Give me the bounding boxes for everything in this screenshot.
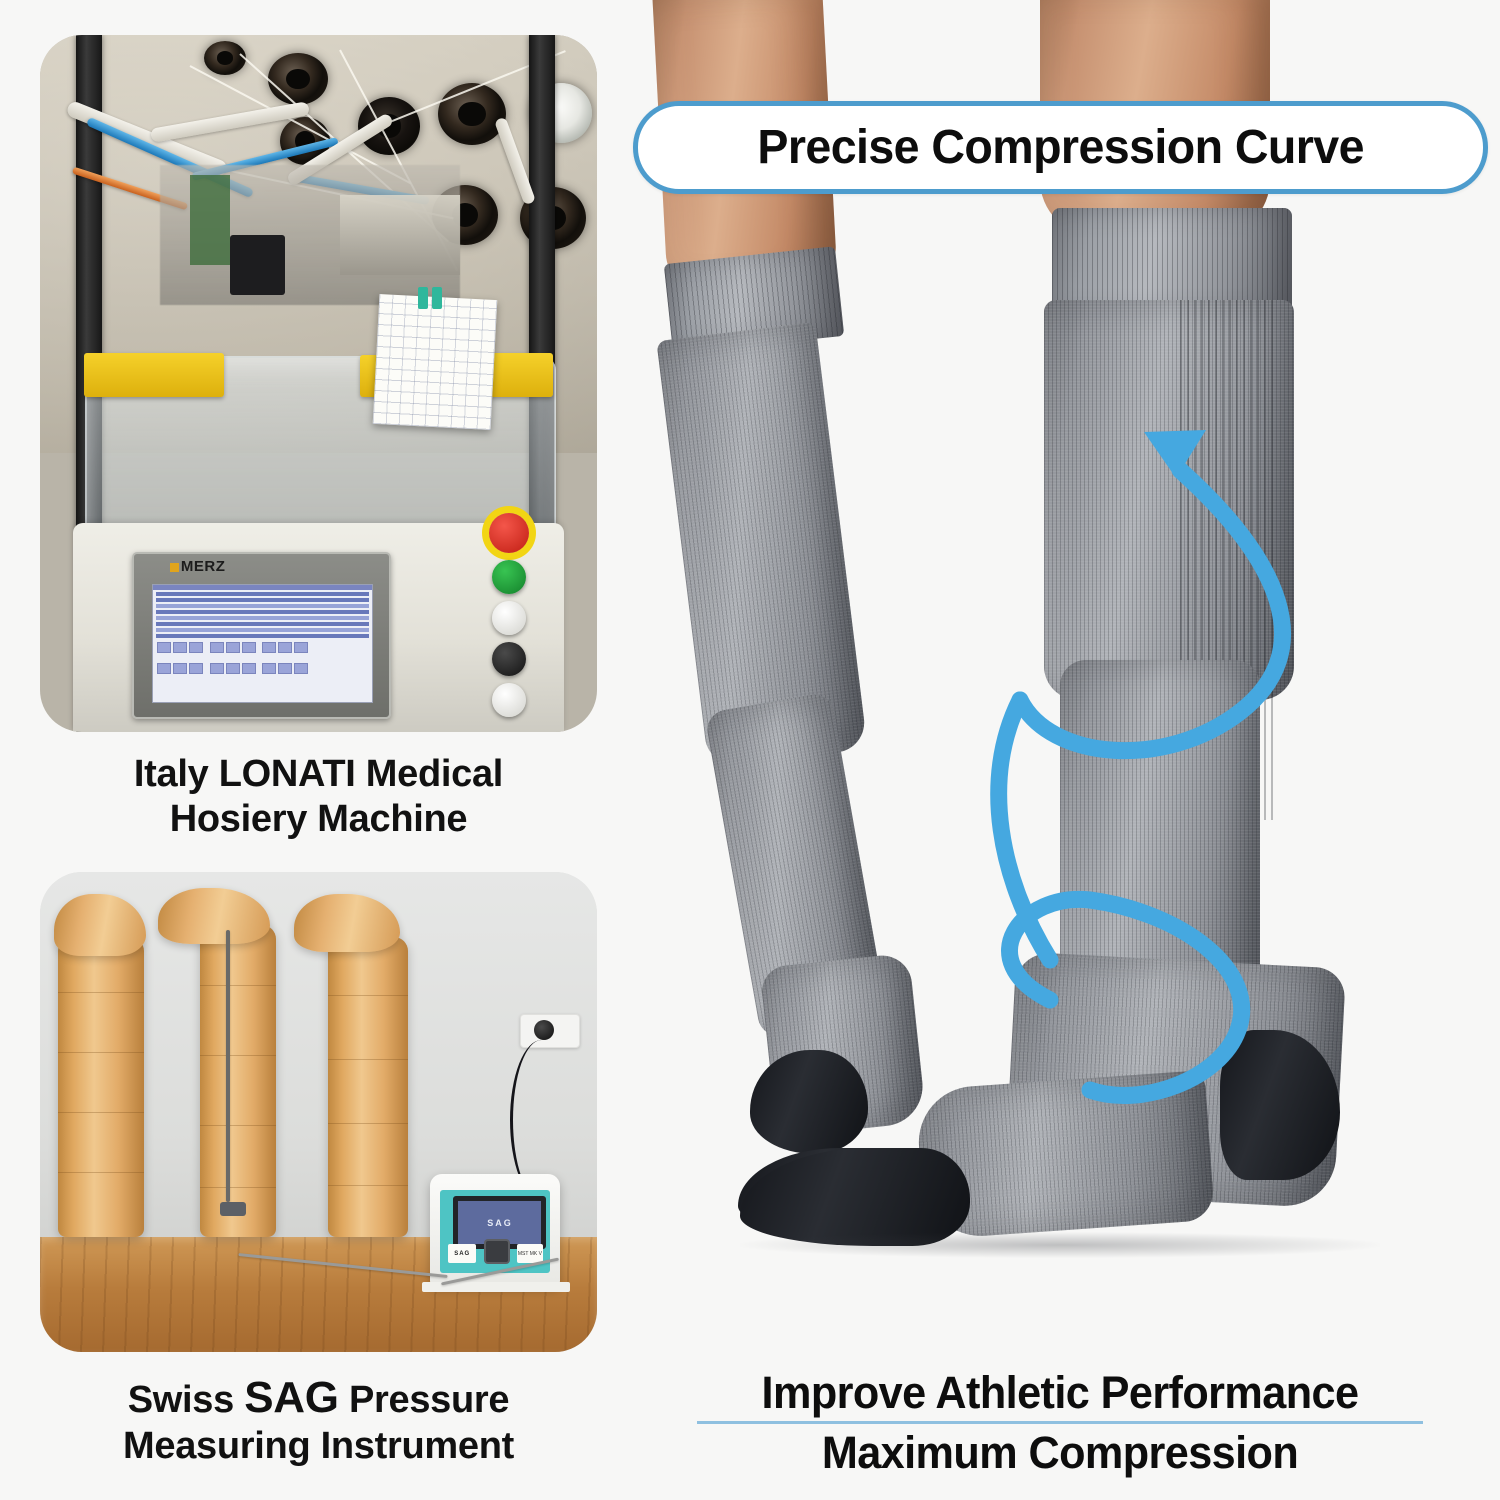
caption-divider [697,1421,1423,1424]
sock-heel-back [750,1050,868,1154]
power-plug [534,1020,554,1040]
wooden-leg-form [328,937,408,1237]
page-title: Precise Compression Curve [757,120,1364,175]
sag-display-text: SAG [487,1218,513,1228]
caption-line: Maximum Compression [638,1428,1483,1478]
sag-model-label: MST MK V [517,1244,543,1262]
sock-calf-back [656,322,867,768]
control-button-black[interactable] [492,642,526,676]
sag-faceplate: SAG SAG MST MK V [440,1190,549,1273]
caption-line: Italy LONATI Medical [40,752,597,797]
sag-brand-badge: SAG [448,1244,476,1262]
sag-model-text: MST MK V [518,1251,542,1257]
sensor-head [220,1202,246,1216]
hmi-console: MERZ [132,552,391,719]
caption-line: Measuring Instrument [40,1424,597,1469]
caption-line: Hosiery Machine [40,797,597,842]
sensor-cable [226,930,230,1202]
machine-base: MERZ [73,523,563,732]
caption-strong: SAG [244,1373,338,1422]
needle-cylinder [340,195,460,275]
caption-line: Swiss SAG Pressure [40,1372,597,1424]
control-button-white[interactable] [492,683,526,717]
binder-clip [432,287,442,309]
yarn-cone [204,41,246,75]
yarn-cone [268,53,328,105]
control-button-white[interactable] [492,601,526,635]
ground-shadow [740,1232,1380,1258]
caption-line: Improve Athletic Performance [638,1368,1483,1418]
sag-badge-text: SAG [454,1251,470,1257]
photo-compression-socks [620,0,1500,1360]
caption-sag-instrument: Swiss SAG Pressure Measuring Instrument [40,1372,597,1469]
sag-measuring-device: SAG SAG MST MK V [430,1174,560,1286]
spiral-segment-mid [999,700,1050,960]
wooden-leg-form [200,925,276,1237]
binder-clip [418,287,428,309]
yarn-cone [438,83,506,145]
emergency-stop-button[interactable] [489,513,529,553]
hmi-screen [152,584,373,703]
machine-button-column [479,506,539,724]
start-button[interactable] [492,560,526,594]
photo-sag-instrument: SAG SAG MST MK V [40,872,597,1352]
merz-logo: MERZ [170,558,226,575]
caption-product-benefit: Improve Athletic Performance Maximum Com… [620,1368,1500,1479]
circuit-board [190,175,230,265]
handwritten-note [373,294,498,430]
sag-measurement-slot [484,1239,510,1265]
header-title-badge: Precise Compression Curve [633,101,1488,194]
merz-logo-text: MERZ [181,558,226,575]
motor-block [230,235,285,295]
photo-knitting-machine: MERZ [40,35,597,732]
caption-pre: Swiss [128,1379,245,1421]
caption-knitting-machine: Italy LONATI Medical Hosiery Machine [40,752,597,842]
yellow-control-panel [84,353,224,397]
caption-post: Pressure [339,1379,510,1421]
wooden-leg-form [58,937,144,1237]
product-feature-image: MERZ [0,0,1500,1500]
